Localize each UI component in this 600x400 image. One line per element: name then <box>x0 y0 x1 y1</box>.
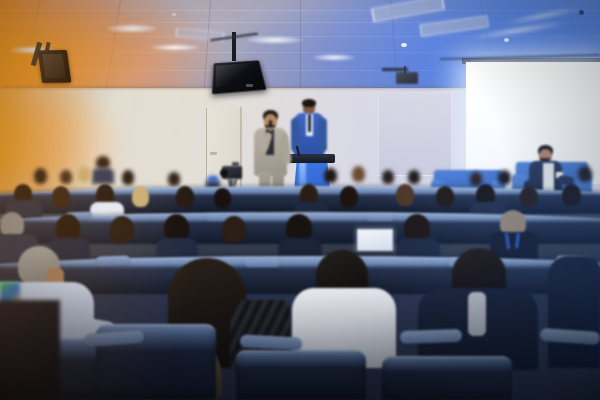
door-handle-icon[interactable] <box>210 152 217 155</box>
audience-head <box>470 172 482 186</box>
foreground-seat-back[interactable] <box>236 350 366 400</box>
handheld-microphone-icon <box>269 120 272 128</box>
audience-head <box>122 170 134 185</box>
audience-torso <box>548 256 600 368</box>
audience-head <box>132 186 149 207</box>
foreground-shadow <box>0 300 60 400</box>
ceiling-downlight <box>312 54 356 61</box>
projector-cable <box>382 68 408 71</box>
ceiling-tv-logo <box>246 84 253 87</box>
camera-lens-icon <box>220 169 228 177</box>
seat-armrest[interactable] <box>244 258 280 267</box>
audience-torso <box>92 168 114 184</box>
foreground-seat-back[interactable] <box>382 356 512 400</box>
audience-head <box>110 216 134 243</box>
audience-head <box>176 186 194 208</box>
ceiling-downlight <box>150 44 200 51</box>
seat-armrest[interactable] <box>366 214 394 221</box>
ceiling-sensor <box>172 13 176 16</box>
camera-viewfinder <box>232 162 239 167</box>
ceiling-tv-screen-reflection <box>215 63 260 87</box>
audience-head <box>436 186 454 207</box>
audience-head <box>52 186 70 208</box>
panelist-shirt <box>543 163 554 193</box>
audience-head <box>34 168 47 184</box>
audience-head <box>498 170 511 185</box>
audience-head <box>562 184 581 206</box>
wall-screen-panel <box>378 92 452 176</box>
audience-head <box>382 170 394 184</box>
ceiling-projector <box>396 72 418 84</box>
conference-photo: Corporate conference presentation in aud… <box>0 0 600 400</box>
podium-speaker-hair <box>302 99 316 107</box>
podium-speaker-tie <box>308 114 311 132</box>
wall-speaker-left-face <box>42 54 65 78</box>
equipment-stand-top <box>208 176 218 182</box>
audience-head <box>324 168 337 183</box>
audience-head <box>520 186 538 207</box>
audience-head <box>396 184 414 206</box>
audience-head <box>214 188 231 208</box>
shirt-collar <box>468 292 486 336</box>
audience-head <box>340 186 358 207</box>
audience-head <box>168 172 180 186</box>
audience-head <box>222 216 246 243</box>
audience-head <box>352 166 365 182</box>
seat-armrest[interactable] <box>96 255 130 265</box>
audience-head <box>60 170 72 184</box>
audience-head <box>408 170 420 184</box>
podium-speaker-arm <box>319 118 327 152</box>
audience-head <box>578 166 592 182</box>
ceiling-sensor <box>579 10 584 15</box>
ceiling-sensor <box>401 43 407 47</box>
seat-armrest[interactable] <box>400 329 462 344</box>
audience-head <box>78 166 91 182</box>
ceiling-downlight <box>246 36 304 44</box>
lectern-top-surface <box>289 154 335 163</box>
ceiling-downlight <box>106 24 158 33</box>
